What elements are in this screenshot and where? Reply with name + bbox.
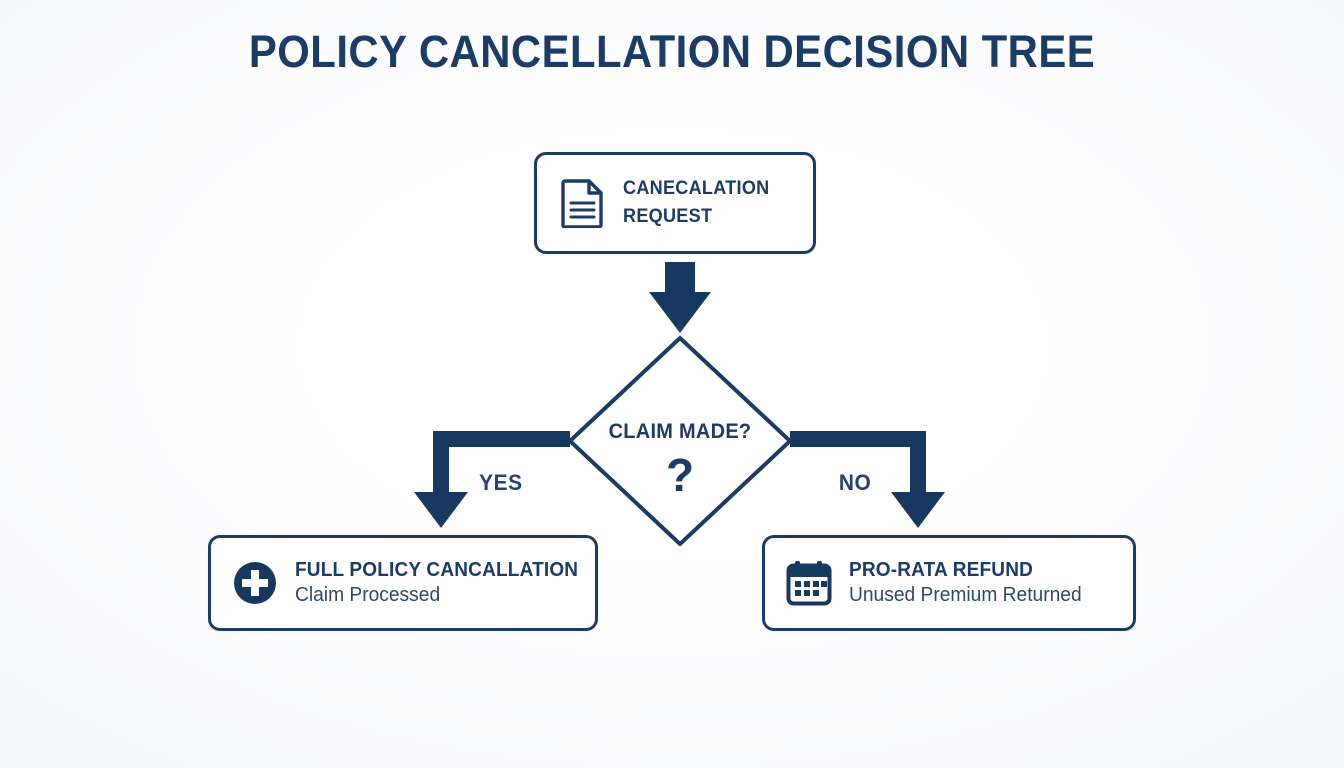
plus-circle-icon (229, 560, 281, 606)
result-yes-title: FULL POLICY CANCALLATION (295, 558, 578, 582)
start-node-text: CANECALATION REQUEST (623, 175, 777, 231)
branch-label-yes: YES (479, 470, 523, 496)
document-icon (557, 178, 609, 228)
result-yes-subtitle: Claim Processed (295, 582, 581, 608)
start-node-line1: CANECALATION (623, 175, 769, 203)
result-node-full-cancellation[interactable]: FULL POLICY CANCALLATION Claim Processed (208, 535, 598, 631)
result-no-title: PRO-RATA REFUND (849, 558, 1079, 582)
decision-label: CLAIM MADE? (569, 420, 791, 444)
diagram-canvas: POLICY CANCELLATION DECISION TREE CLAIM … (0, 0, 1344, 768)
branch-label-no: NO (839, 470, 871, 496)
start-node[interactable]: CANECALATION REQUEST (534, 152, 816, 254)
edge-start-to-decision (649, 262, 711, 333)
result-no-subtitle: Unused Premium Returned (849, 582, 1082, 608)
start-node-line2: REQUEST (623, 203, 769, 231)
calendar-icon (783, 558, 835, 608)
result-node-pro-rata-refund[interactable]: PRO-RATA REFUND Unused Premium Returned (762, 535, 1136, 631)
result-no-text: PRO-RATA REFUND Unused Premium Returned (849, 558, 1091, 608)
question-mark-icon: ? (563, 450, 797, 500)
decision-node[interactable]: CLAIM MADE? ? (563, 332, 797, 550)
result-yes-text: FULL POLICY CANCALLATION Claim Processed (295, 558, 593, 608)
